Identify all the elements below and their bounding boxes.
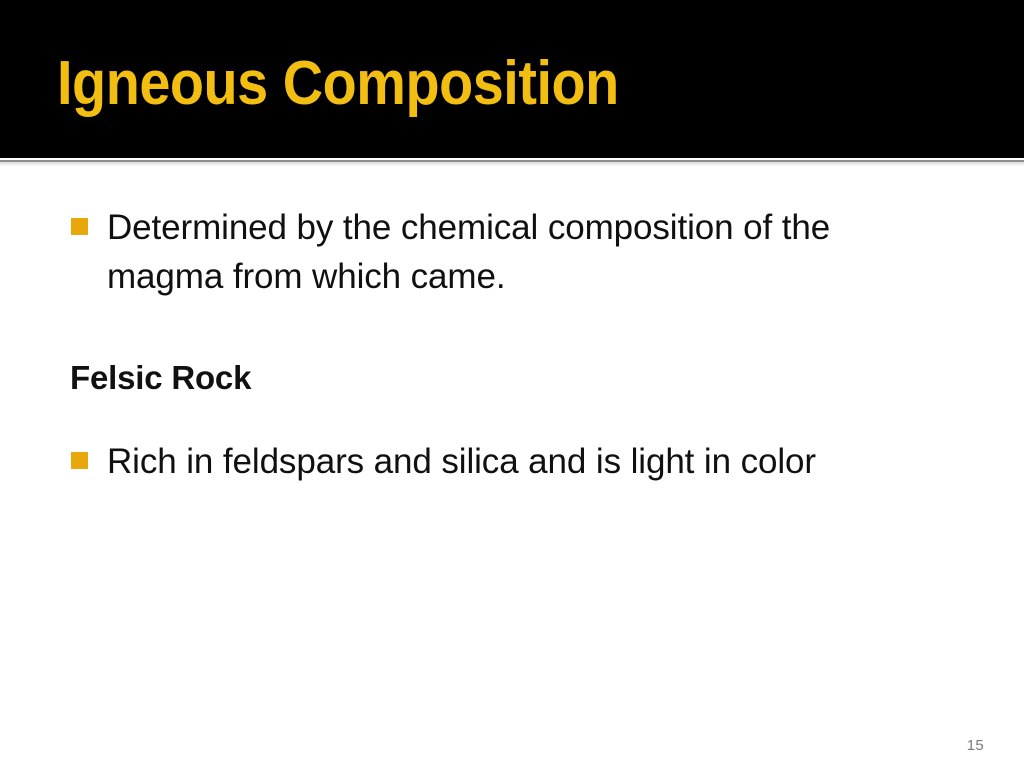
title-divider: [0, 158, 1024, 167]
section-heading: Felsic Rock: [70, 357, 251, 399]
slide-number: 15: [967, 737, 984, 754]
slide-body: Determined by the chemical composition o…: [0, 167, 1024, 768]
title-band: Igneous Composition: [0, 0, 1024, 158]
page-title: Igneous Composition: [57, 48, 619, 120]
list-item: Rich in feldspars and silica and is ligh…: [71, 437, 971, 486]
square-bullet-icon: [71, 218, 88, 235]
list-item: Determined by the chemical composition o…: [71, 203, 951, 301]
presentation-slide: Igneous Composition Determined by the ch…: [0, 0, 1024, 768]
list-item-text: Rich in feldspars and silica and is ligh…: [107, 437, 971, 486]
list-item-text: Determined by the chemical composition o…: [107, 203, 951, 301]
square-bullet-icon: [71, 452, 88, 469]
